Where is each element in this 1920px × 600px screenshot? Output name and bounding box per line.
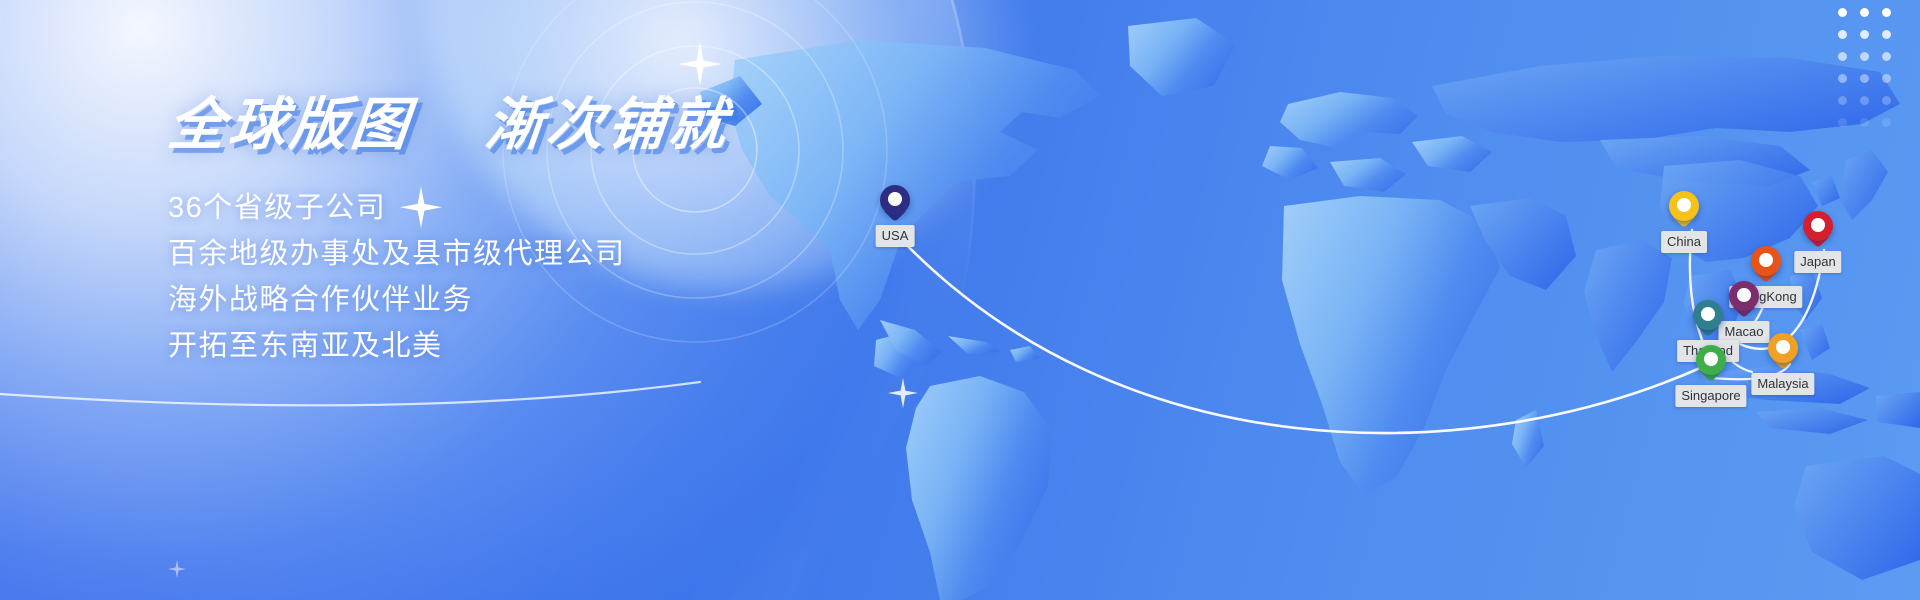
- list-item-label: 海外战略合作伙伴业务: [168, 284, 473, 316]
- map-pin-center-dot: [1776, 340, 1790, 354]
- map-pin-icon: [1803, 211, 1833, 241]
- page-title: 全球版图 渐次铺就: [165, 96, 733, 155]
- headline-part-2: 渐次铺就: [482, 93, 733, 157]
- map-pin-center-dot: [888, 192, 902, 206]
- map-pin-icon: [1696, 345, 1726, 375]
- headline-part-1: 全球版图: [165, 93, 416, 157]
- map-marker-malaysia[interactable]: Malaysia: [1768, 333, 1798, 363]
- list-item: 百余地级办事处及县市级代理公司: [168, 231, 730, 277]
- map-marker-usa[interactable]: USA: [880, 185, 910, 215]
- sparkle-icon-top: [678, 42, 722, 86]
- map-marker-label: China: [1661, 231, 1707, 253]
- map-marker-japan[interactable]: Japan: [1803, 211, 1833, 241]
- map-marker-label: USA: [876, 225, 915, 247]
- dot-grid-decoration: [1838, 8, 1898, 134]
- map-pin-icon: [880, 185, 910, 215]
- list-item: 海外战略合作伙伴业务: [168, 277, 730, 323]
- highlight-list: 36个省级子公司 百余地级办事处及县市级代理公司 海外战略合作伙伴业务 开拓至东…: [168, 185, 730, 369]
- map-pin-center-dot: [1677, 198, 1691, 212]
- map-pin-icon: [1768, 333, 1798, 363]
- list-item-label: 百余地级办事处及县市级代理公司: [168, 238, 626, 270]
- landmass-group: [700, 18, 1544, 600]
- map-pin-center-dot: [1811, 218, 1825, 232]
- landmass-group-asia: [1432, 56, 1920, 580]
- sparkle-icon-low: [168, 560, 186, 578]
- list-item: 开拓至东南亚及北美: [168, 323, 730, 369]
- map-marker-singapore[interactable]: Singapore: [1696, 345, 1726, 375]
- map-marker-label: Malaysia: [1751, 373, 1814, 395]
- list-item-label: 36个省级子公司: [168, 192, 386, 224]
- sparkle-icon-mid: [888, 378, 918, 408]
- map-marker-china[interactable]: China: [1669, 191, 1699, 221]
- sparkle-icon-inline: [400, 186, 442, 228]
- map-pin-icon: [1693, 300, 1723, 330]
- map-marker-thailand[interactable]: Thailand: [1693, 300, 1723, 330]
- map-pin-icon: [1751, 246, 1781, 276]
- map-pin-icon: [1729, 281, 1759, 311]
- arc-usa-to-asia: [898, 236, 1700, 433]
- map-marker-label: Singapore: [1675, 385, 1746, 407]
- arc-left-edge: [0, 382, 700, 405]
- copy-block: 全球版图 渐次铺就 36个省级子公司 百余地级办事处及县市级代理公司 海外战略合…: [168, 96, 730, 369]
- map-pin-center-dot: [1737, 288, 1751, 302]
- global-footprint-banner: 全球版图 渐次铺就 36个省级子公司 百余地级办事处及县市级代理公司 海外战略合…: [0, 0, 1920, 600]
- map-pin-icon: [1669, 191, 1699, 221]
- map-pin-center-dot: [1704, 352, 1718, 366]
- map-pin-center-dot: [1759, 253, 1773, 267]
- list-item-label: 开拓至东南亚及北美: [168, 330, 443, 362]
- map-marker-macao[interactable]: Macao: [1729, 281, 1759, 311]
- map-pin-center-dot: [1701, 307, 1715, 321]
- map-marker-label: Japan: [1794, 251, 1841, 273]
- list-item: 36个省级子公司: [168, 185, 730, 231]
- map-marker-hongkong[interactable]: HongKong: [1751, 246, 1781, 276]
